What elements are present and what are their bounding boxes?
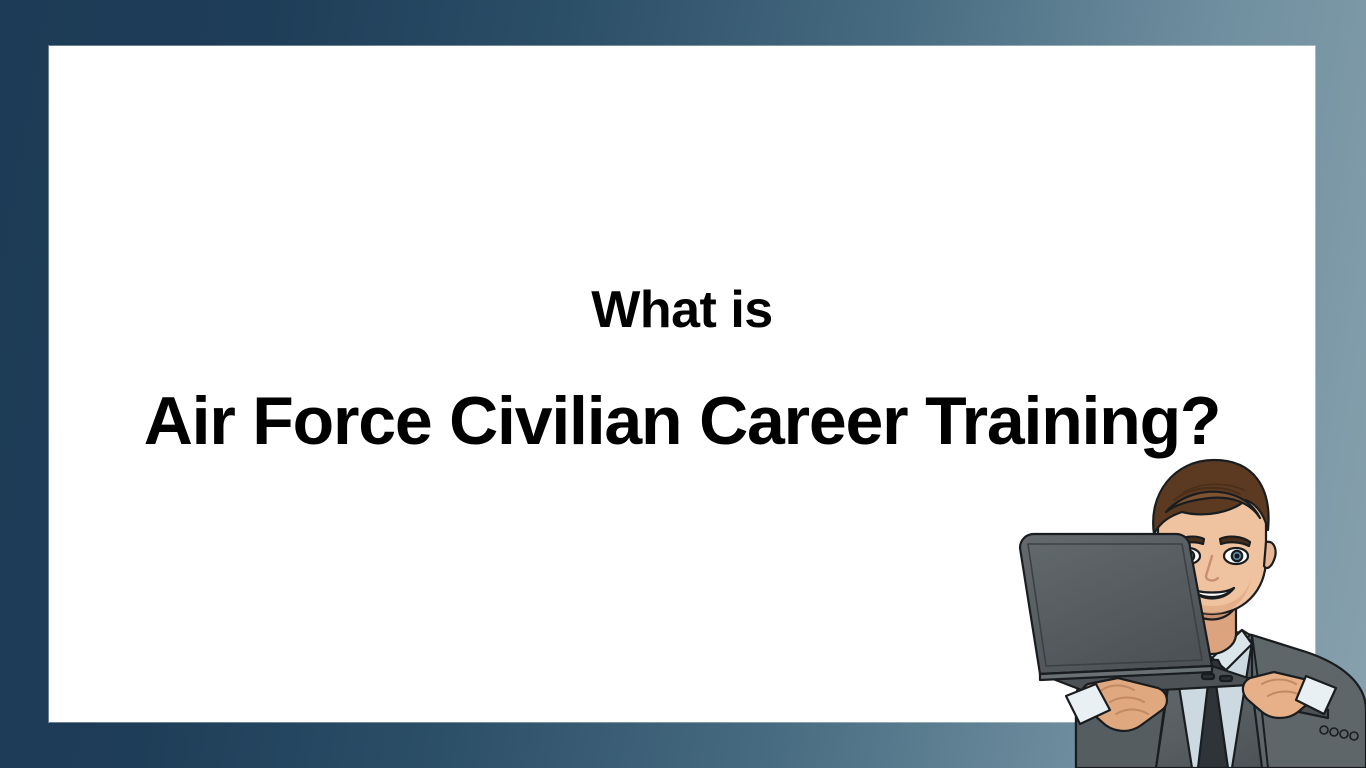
page-title-line-2: Air Force Civilian Career Training?	[144, 383, 1221, 459]
content-card: What is Air Force Civilian Career Traini…	[49, 46, 1315, 722]
title-block: What is Air Force Civilian Career Traini…	[49, 46, 1315, 722]
page-title-line-1: What is	[591, 281, 772, 341]
slide-root: What is Air Force Civilian Career Traini…	[0, 0, 1366, 768]
